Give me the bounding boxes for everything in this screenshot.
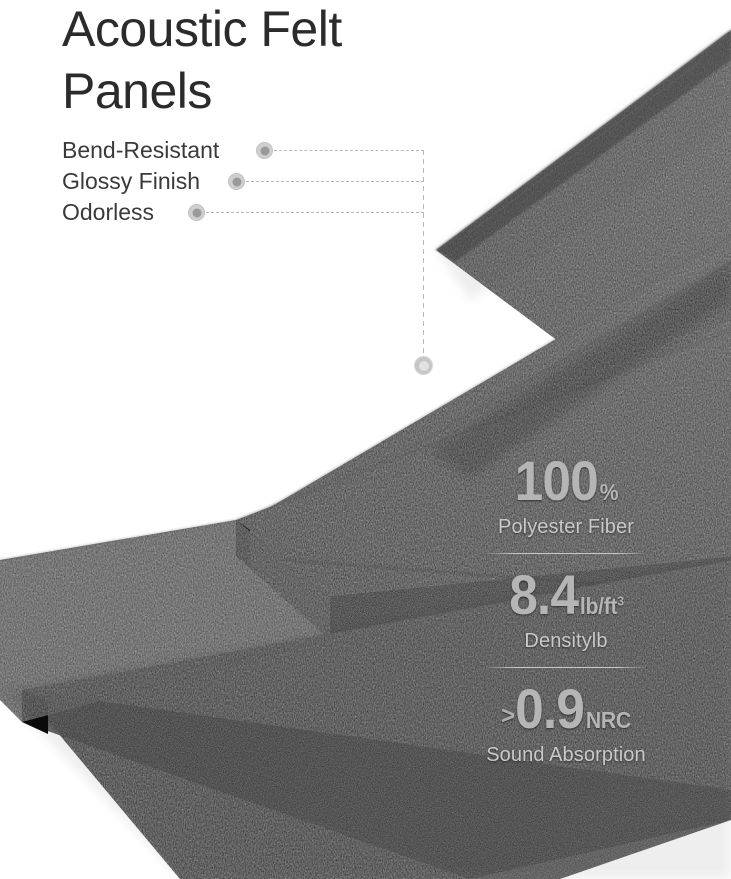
stat-unit-text: % xyxy=(600,479,619,505)
page-title: Acoustic Felt Panels xyxy=(62,0,482,122)
leader-line-odorless xyxy=(206,212,424,213)
stat-value-row: > 0.9 NRC xyxy=(443,680,690,738)
feature-label: Odorless xyxy=(62,198,154,227)
stat-value-row: 8.4 lb/ft3 xyxy=(443,566,690,624)
stat-density: 8.4 lb/ft3 Densitylb xyxy=(432,566,700,654)
stat-label: Polyester Fiber xyxy=(432,514,700,540)
stat-divider xyxy=(486,553,646,554)
feature-label: Bend-Resistant xyxy=(62,136,219,165)
stat-unit-text: NRC xyxy=(586,707,631,733)
stat-divider xyxy=(486,667,646,668)
leader-line-bend-resistant xyxy=(274,150,424,151)
callout-dot-glossy-finish-icon xyxy=(228,173,245,190)
product-stats-panel: 100 % Polyester Fiber 8.4 lb/ft3 Density… xyxy=(432,452,700,768)
stat-unit-text: lb/ft xyxy=(580,593,617,619)
stat-label: Sound Absorption xyxy=(432,742,700,768)
callout-dot-bend-resistant-icon xyxy=(256,142,273,159)
stat-label: Densitylb xyxy=(432,628,700,654)
stat-unit-sup: 3 xyxy=(617,593,623,608)
stat-value-row: 100 % xyxy=(443,452,690,510)
product-marketing-image: Acoustic Felt Panels Bend-Resistant Glos… xyxy=(0,0,731,879)
stat-number: 8.4 xyxy=(509,566,578,624)
feature-callout-glossy-finish: Glossy Finish xyxy=(0,167,470,198)
stat-unit: % xyxy=(600,481,619,504)
feature-callout-odorless: Odorless xyxy=(0,198,470,229)
feature-callout-bend-resistant: Bend-Resistant xyxy=(0,136,470,167)
stat-unit: NRC xyxy=(586,709,631,732)
stat-sound-absorption: > 0.9 NRC Sound Absorption xyxy=(432,680,700,768)
callout-terminal-dot-icon xyxy=(414,356,433,375)
feature-callout-list: Bend-Resistant Glossy Finish Odorless xyxy=(0,136,470,229)
stat-unit: lb/ft3 xyxy=(580,595,624,618)
stat-number: 0.9 xyxy=(515,680,584,738)
stat-prefix: > xyxy=(501,702,514,728)
feature-label: Glossy Finish xyxy=(62,167,200,196)
stat-polyester-fiber: 100 % Polyester Fiber xyxy=(432,452,700,540)
stat-number: 100 xyxy=(515,452,598,510)
callout-dot-odorless-icon xyxy=(188,204,205,221)
leader-line-glossy-finish xyxy=(246,181,424,182)
